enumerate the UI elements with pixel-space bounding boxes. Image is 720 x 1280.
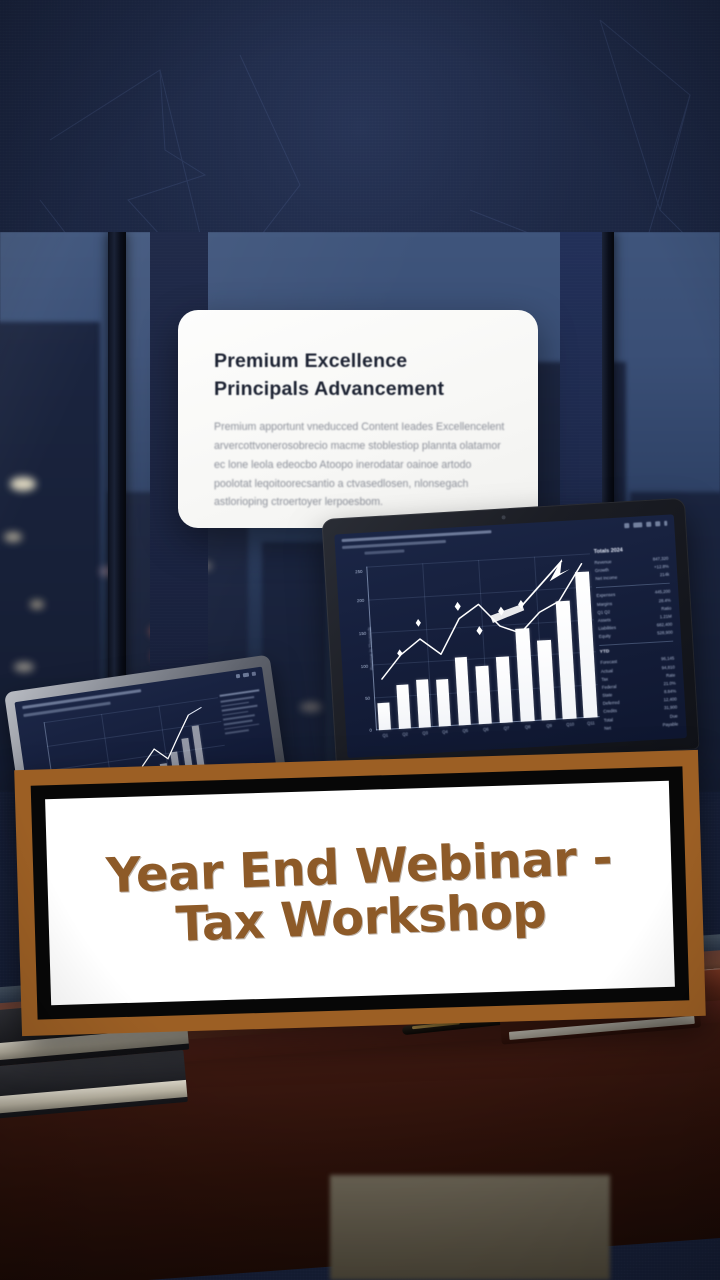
x-tick: Q3: [422, 730, 428, 735]
title-banner: Year End Webinar - Tax Workshop: [14, 750, 706, 1036]
x-tick: Q5: [462, 728, 468, 733]
metric-label: Net Income: [595, 574, 617, 583]
bar-chart: Revenue in Thousands 0 50 100 150 200 25…: [366, 553, 599, 730]
laptop-screen: Revenue in Thousands 0 50 100 150 200 25…: [334, 514, 687, 758]
dashboard-side-panel: Totals 2024 Revenue847,320 Growth+12.8% …: [594, 545, 679, 733]
trend-markers: [366, 553, 599, 730]
card-title: Premium Excellence Principals Advancemen…: [214, 348, 504, 403]
x-tick: Q9: [546, 723, 552, 728]
x-tick: Q11: [587, 720, 595, 725]
banner-inner-border: Year End Webinar - Tax Workshop: [31, 766, 690, 1019]
battery-icon: [243, 673, 250, 678]
card-body-text: Premium apportunt vneducced Content Iead…: [214, 418, 506, 512]
y-tick: 150: [359, 631, 367, 636]
metric-value: 528,900: [657, 629, 673, 638]
signal-icon: [664, 521, 667, 526]
x-tick: Q7: [504, 725, 510, 730]
metric-value: Payable: [662, 720, 678, 729]
x-tick: Q8: [525, 724, 531, 729]
y-tick: 100: [361, 663, 369, 668]
battery-icon: [633, 522, 642, 528]
y-tick: 0: [369, 728, 372, 733]
banner-title: Year End Webinar - Tax Workshop: [46, 830, 673, 956]
banner-surface: Year End Webinar - Tax Workshop: [45, 781, 675, 1005]
laptop-primary: Revenue in Thousands 0 50 100 150 200 25…: [321, 498, 699, 771]
y-tick: 200: [357, 598, 365, 603]
metric-label: Net: [604, 724, 611, 733]
y-tick: 50: [365, 696, 370, 701]
side-panel-section-heading: YTD: [600, 646, 674, 655]
x-tick: Q10: [566, 722, 574, 727]
wifi-icon: [236, 674, 241, 679]
menu-icon: [655, 521, 660, 526]
y-tick: 250: [355, 568, 363, 573]
x-tick: Q6: [483, 727, 489, 732]
floor: [330, 1175, 610, 1280]
poster-canvas: Premium Excellence Principals Advancemen…: [0, 0, 720, 1280]
x-tick: Q4: [442, 729, 448, 734]
status-icons-group: [624, 521, 667, 529]
metric-label: Equity: [599, 633, 611, 642]
clock-icon: [646, 522, 651, 527]
x-tick: Q1: [382, 733, 388, 738]
clock-icon: [252, 672, 257, 677]
content-card: Premium Excellence Principals Advancemen…: [178, 310, 538, 528]
x-tick: Q2: [402, 731, 408, 736]
metric-value: 214k: [660, 571, 670, 580]
side-panel-heading: Totals 2024: [594, 545, 668, 555]
wifi-icon: [624, 523, 629, 528]
